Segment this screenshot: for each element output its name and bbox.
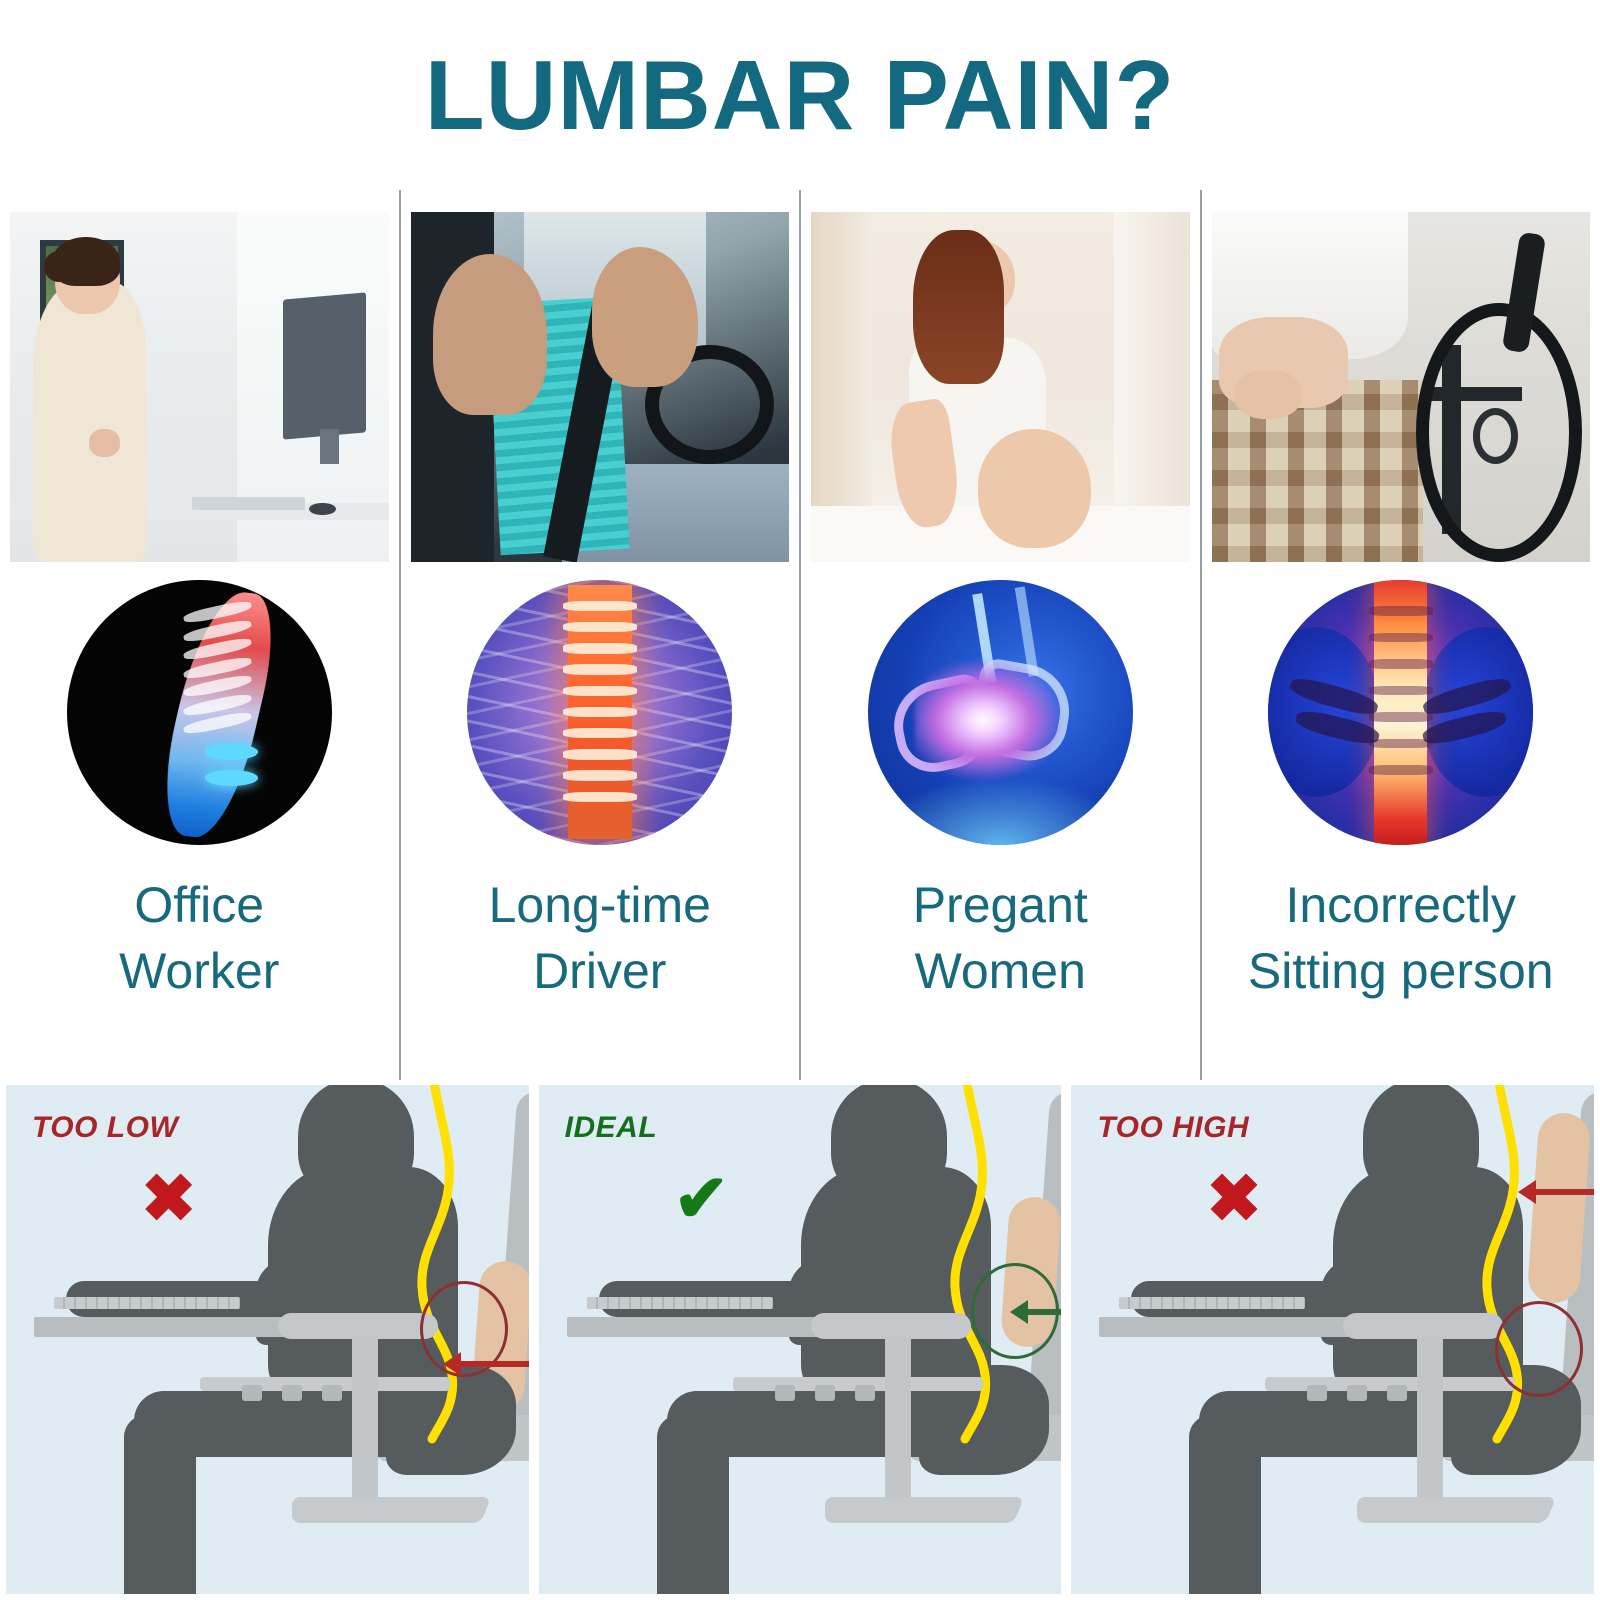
persona-label: Incorrectly Sitting person: [1202, 862, 1600, 1004]
ergonomics-panel-ideal: IDEAL ✔: [539, 1085, 1062, 1594]
check-icon: ✔: [674, 1165, 729, 1231]
persona-label-line1: Office: [134, 877, 264, 933]
spine-xray-black-circle: [67, 580, 332, 845]
ergo-tag-label: IDEAL: [565, 1111, 658, 1145]
persona-label-line2: Women: [807, 938, 1194, 1004]
persona-label: Pregant Women: [801, 862, 1200, 1004]
circle-zone: [801, 562, 1200, 862]
persona-column-long-time-driver: Long-time Driver: [401, 190, 802, 1080]
pelvis-glow-blue-circle: [868, 580, 1133, 845]
lumbar-thermal-circle: [1268, 580, 1533, 845]
persona-label: Office Worker: [0, 862, 399, 1004]
driver-photo: [401, 190, 800, 562]
ergonomics-panel-too-high: TOO HIGH ✖: [1071, 1085, 1594, 1594]
page-title: LUMBAR PAIN?: [425, 46, 1176, 144]
persona-column-pregnant-women: Pregant Women: [801, 190, 1202, 1080]
ergonomics-grid: TOO LOW ✖ IDEAL ✔: [0, 1085, 1600, 1600]
persona-label-line1: Long-time: [489, 877, 711, 933]
cross-icon: ✖: [141, 1165, 196, 1231]
pregnant-woman-photo: [801, 190, 1200, 562]
persona-label: Long-time Driver: [401, 862, 800, 1004]
persona-label-line2: Driver: [407, 938, 794, 1004]
office-worker-photo: [0, 190, 399, 562]
persona-label-line1: Pregant: [913, 877, 1088, 933]
circle-zone: [0, 562, 399, 862]
persona-label-line2: Sitting person: [1208, 938, 1595, 1004]
ergo-tag-label: TOO LOW: [32, 1111, 178, 1145]
annotation-arrow: [1025, 1309, 1062, 1315]
annotation-arrow: [458, 1361, 529, 1367]
cross-icon: ✖: [1206, 1165, 1261, 1231]
persona-column-incorrectly-sitting-person: Incorrectly Sitting person: [1202, 190, 1600, 1080]
title-bar: LUMBAR PAIN?: [0, 0, 1600, 190]
persona-label-line2: Worker: [6, 938, 393, 1004]
circle-zone: [401, 562, 800, 862]
persona-column-office-worker: Office Worker: [0, 190, 401, 1080]
annotation-circle: [1495, 1301, 1583, 1397]
spine-xray-purple-circle: [467, 580, 732, 845]
persona-label-line1: Incorrectly: [1285, 877, 1516, 933]
circle-zone: [1202, 562, 1600, 862]
ergo-tag-label: TOO HIGH: [1097, 1111, 1249, 1145]
persona-grid: Office Worker: [0, 190, 1600, 1080]
annotation-arrow: [1533, 1189, 1594, 1195]
wheelchair-user-photo: [1202, 190, 1600, 562]
ergonomics-panel-too-low: TOO LOW ✖: [6, 1085, 529, 1594]
